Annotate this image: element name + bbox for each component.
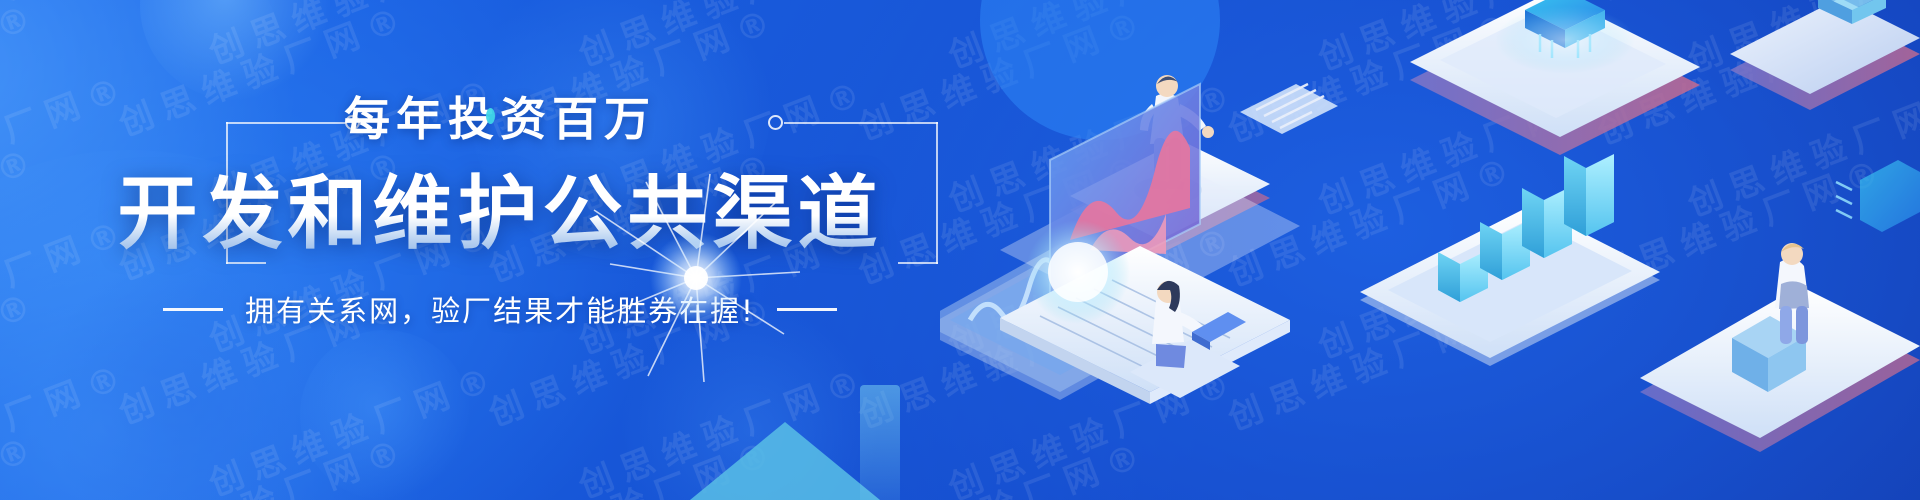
isometric-illustration bbox=[940, 0, 1920, 500]
subtitle-dash-left bbox=[163, 308, 223, 311]
promo-banner: 创思维验厂网® 创思维验厂网® 创思维验厂网® 创思维验厂网® 创思维验厂网® … bbox=[0, 0, 1920, 500]
platform-chip bbox=[1410, 0, 1700, 155]
document-card-icon bbox=[1240, 84, 1338, 134]
subtitle-dash-right bbox=[777, 308, 837, 311]
subtitle-text: 拥有关系网，验厂结果才能胜券在握! bbox=[245, 288, 755, 330]
platform-right-lower bbox=[1640, 243, 1920, 452]
headline-small: 每年投资百万 bbox=[0, 96, 1000, 142]
headline-block: 每年投资百万 开发和维护公共渠道 拥有关系网，验厂结果才能胜券在握! bbox=[0, 0, 1000, 500]
accent-dot-teal bbox=[486, 108, 495, 124]
figure-standing-man-right bbox=[1775, 243, 1809, 344]
cpu-chip-icon-right bbox=[1836, 160, 1920, 232]
subtitle-row: 拥有关系网，验厂结果才能胜券在握! bbox=[0, 288, 1000, 330]
headline-large: 开发和维护公共渠道 bbox=[0, 170, 1000, 258]
tablet-bar-chart bbox=[1360, 154, 1660, 366]
platform-right-top bbox=[1730, 0, 1920, 110]
